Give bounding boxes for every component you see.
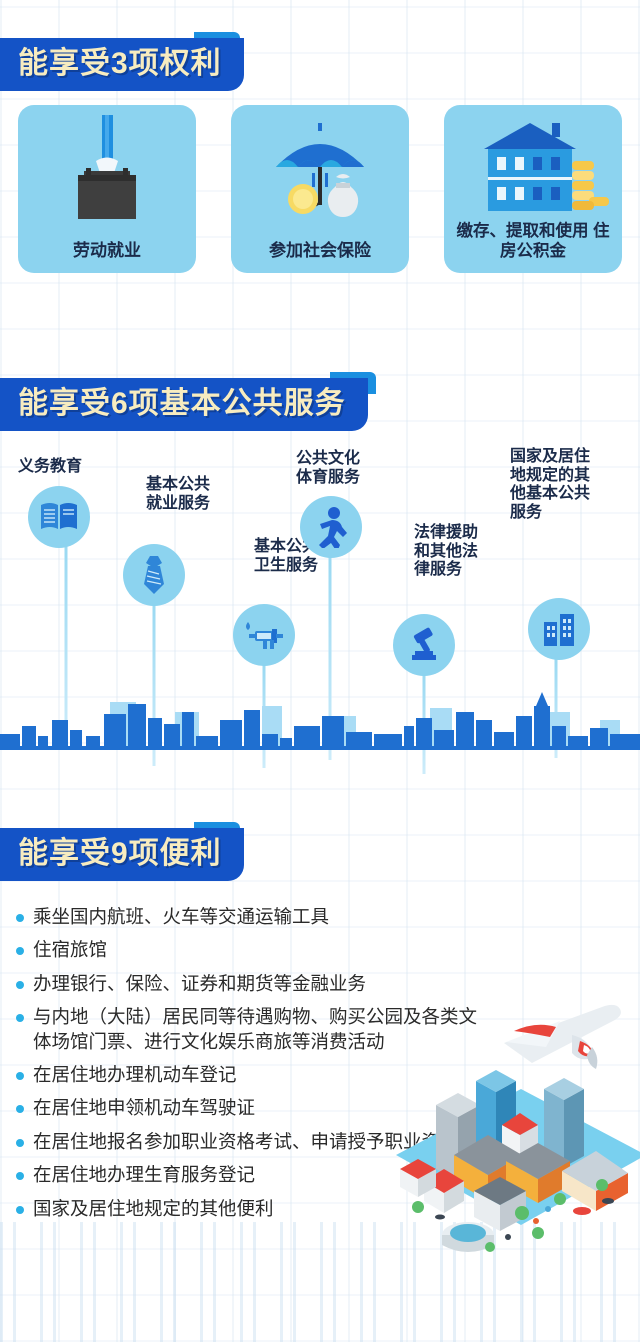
runner-icon	[312, 506, 350, 548]
bullet-dot	[16, 1172, 24, 1180]
bullet-dot	[16, 947, 24, 955]
gavel-icon	[404, 625, 444, 665]
card-label: 缴存、提取和使用 住房公积金	[444, 222, 622, 273]
list-item: 乘坐国内航班、火车等交通运输工具	[16, 905, 486, 929]
buildings-icon	[540, 610, 578, 648]
card-social-insurance[interactable]: 参加社会保险	[231, 105, 409, 273]
pin-label: 基本公共 就业服务	[146, 476, 210, 513]
list-item-text: 在居住地申领机动车驾驶证	[33, 1096, 255, 1120]
bullet-dot	[16, 1139, 24, 1147]
card-housing-fund[interactable]: 缴存、提取和使用 住房公积金	[444, 105, 622, 273]
umbrella-icon	[231, 115, 409, 223]
list-item-text: 在居住地办理机动车登记	[33, 1063, 237, 1087]
open-book-icon	[39, 499, 79, 535]
section-rights: 能享受3项权利	[0, 38, 244, 91]
briefcase-icon	[18, 115, 196, 223]
city-skyline-illustration	[0, 690, 640, 750]
card-labor-employment[interactable]: 劳动就业	[18, 105, 196, 273]
banner-public-services-label: 能享受6项基本公共服务	[0, 378, 368, 431]
banner-public-services: 能享受6项基本公共服务	[0, 378, 368, 431]
pin-label: 义务教育	[18, 458, 82, 477]
bullet-dot	[16, 1206, 24, 1214]
list-item: 住宿旅馆	[16, 938, 486, 962]
list-item-text: 办理银行、保险、证券和期货等金融业务	[33, 972, 366, 996]
bullet-dot	[16, 981, 24, 989]
list-item-text: 在居住地报名参加职业资格考试、申请授予职业资格	[33, 1130, 459, 1154]
bullet-dot	[16, 1072, 24, 1080]
bullet-dot	[16, 1014, 24, 1022]
syringe-icon	[243, 618, 285, 652]
pin-label: 法律援助 和其他法 律服务	[414, 524, 478, 580]
banner-rights-label: 能享受3项权利	[0, 38, 244, 91]
banner-conveniences: 能享受9项便利	[0, 828, 244, 881]
list-item-text: 国家及居住地规定的其他便利	[33, 1197, 274, 1221]
card-label: 劳动就业	[67, 241, 147, 273]
banner-conveniences-label: 能享受9项便利	[0, 828, 244, 881]
bullet-dot	[16, 914, 24, 922]
house-coins-icon	[444, 115, 622, 223]
banner-rights: 能享受3项权利	[0, 38, 244, 91]
isometric-city-airplane-illustration	[396, 985, 640, 1275]
list-item-text: 住宿旅馆	[33, 938, 107, 962]
section-conveniences: 能享受9项便利	[0, 828, 244, 881]
pin-label: 公共文化 体育服务	[296, 450, 360, 487]
necktie-icon	[137, 554, 171, 596]
rights-card-list: 劳动就业 参加社会保险	[0, 105, 640, 273]
section-public-services: 能享受6项基本公共服务	[0, 378, 368, 431]
list-item-text: 乘坐国内航班、火车等交通运输工具	[33, 905, 329, 929]
list-item-text: 在居住地办理生育服务登记	[33, 1163, 255, 1187]
card-label: 参加社会保险	[263, 241, 377, 273]
pin-label: 国家及居住 地规定的其 他基本公共 服务	[510, 448, 590, 522]
infographic-page: 能享受3项权利 劳动就业	[0, 0, 640, 1342]
bullet-dot	[16, 1105, 24, 1113]
